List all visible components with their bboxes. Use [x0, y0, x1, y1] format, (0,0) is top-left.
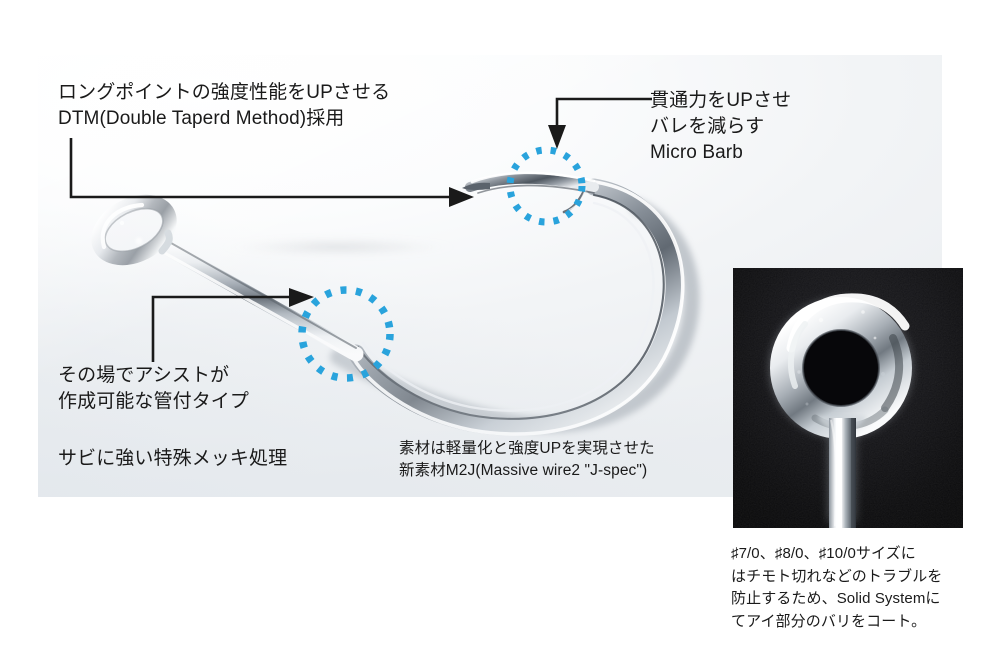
dtm-leader-line	[60, 130, 480, 210]
plating-callout: サビに強い特殊メッキ処理	[58, 446, 287, 472]
solid-system-caption-line4: てアイ部分のバリをコート。	[731, 611, 942, 634]
micro-barb-callout-line3: Micro Barb	[650, 140, 791, 166]
solid-system-caption-line3: 防止するため、Solid Systemに	[731, 588, 942, 611]
micro-barb-callout-line2: バレを減らす	[650, 114, 791, 140]
ring-eye-leader-line	[142, 288, 332, 370]
dtm-callout-line2: DTM(Double Taperd Method)採用	[58, 106, 390, 132]
eye-macro-photo	[733, 268, 963, 528]
material-callout-line1: 素材は軽量化と強度UPを実現させた	[399, 438, 655, 460]
plating-callout-line1: サビに強い特殊メッキ処理	[58, 446, 287, 472]
micro-barb-callout: 貫通力をUPさせ バレを減らす Micro Barb	[650, 88, 791, 166]
solid-system-caption-line1: ♯7/0、♯8/0、♯10/0サイズに	[731, 543, 942, 566]
material-callout-line2: 新素材M2J(Massive wire2 "J-spec")	[399, 460, 655, 482]
solid-system-caption: ♯7/0、♯8/0、♯10/0サイズに はチモト切れなどのトラブルを 防止するた…	[731, 543, 942, 633]
micro-barb-callout-line1: 貫通力をUPさせ	[650, 88, 791, 114]
micro-barb-leader-line	[548, 92, 658, 154]
ring-eye-callout-line2: 作成可能な管付タイプ	[58, 389, 249, 415]
ring-eye-callout: その場でアシストが 作成可能な管付タイプ	[58, 363, 249, 415]
ring-eye-callout-line1: その場でアシストが	[58, 363, 249, 389]
dtm-callout-line1: ロングポイントの強度性能をUPさせる	[58, 80, 390, 106]
solid-system-caption-line2: はチモト切れなどのトラブルを	[731, 566, 942, 589]
dtm-callout: ロングポイントの強度性能をUPさせる DTM(Double Taperd Met…	[58, 80, 390, 132]
material-callout: 素材は軽量化と強度UPを実現させた 新素材M2J(Massive wire2 "…	[399, 438, 655, 482]
diagram-canvas: ロングポイントの強度性能をUPさせる DTM(Double Taperd Met…	[0, 0, 1000, 667]
